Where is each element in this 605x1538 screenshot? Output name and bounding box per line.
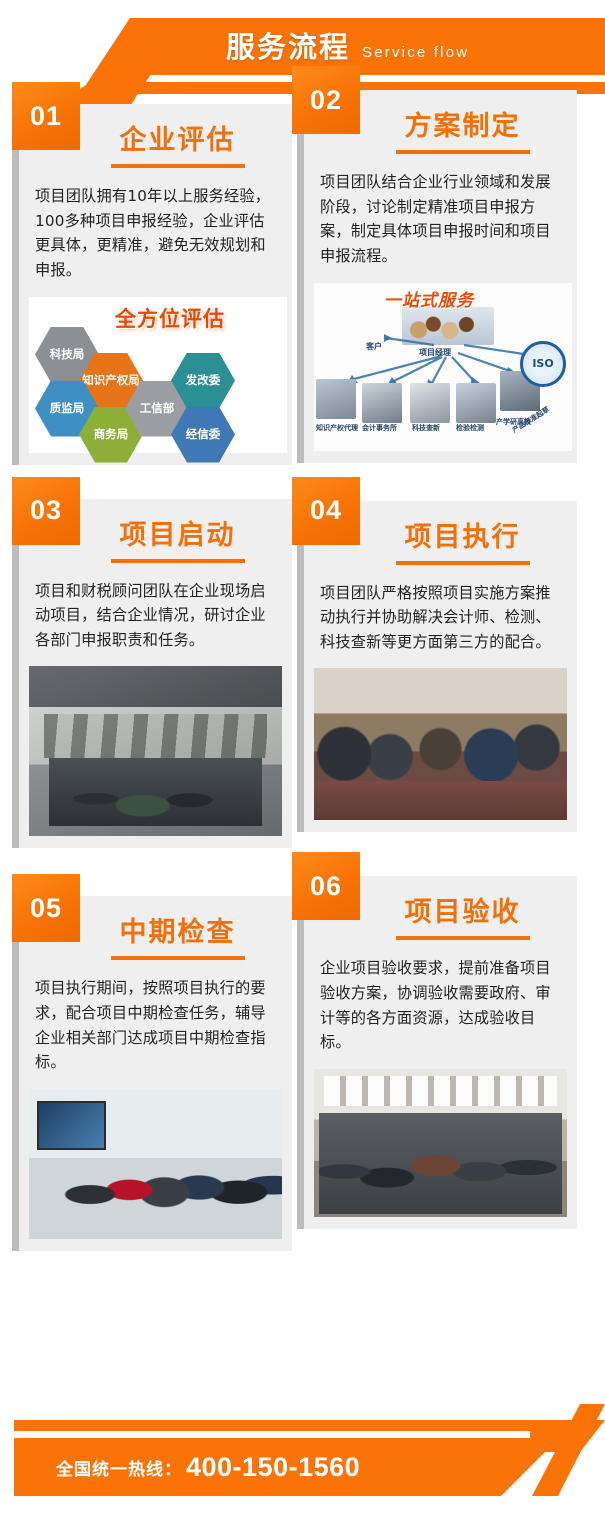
step-card-06: 06 项目验收 企业项目验收要求，提前准备项目验收方案，协调验收需要政府、审计等… bbox=[297, 876, 577, 1229]
title-underline-06 bbox=[396, 936, 530, 940]
step-media-02: 一站式服务 bbox=[304, 279, 577, 463]
step-card-03: 03 项目启动 项目和财税顾问团队在企业现场启动项目，结合企业情况，研讨企业各部… bbox=[12, 499, 292, 849]
step-title-04: 项目执行 bbox=[405, 515, 521, 554]
photo-working-meeting bbox=[314, 668, 567, 820]
service-flow-infographic: 服务流程 Service flow 01 企业评估 项目团队拥有10年以上服务经… bbox=[0, 0, 605, 1538]
one-stop-leaf-label: 会计事务所 bbox=[362, 423, 397, 433]
one-stop-client-label: 客户 bbox=[366, 341, 382, 352]
step-number-badge-04: 04 bbox=[292, 477, 360, 545]
title-underline-02 bbox=[396, 150, 530, 154]
step-media-06 bbox=[304, 1065, 577, 1229]
step-title-02: 方案制定 bbox=[405, 104, 521, 143]
step-number-badge-01: 01 bbox=[12, 82, 80, 150]
step-title-03: 项目启动 bbox=[120, 513, 236, 552]
page-subtitle: Service flow bbox=[362, 44, 469, 61]
photo-showroom-visit bbox=[29, 1089, 282, 1239]
one-stop-title: 一站式服务 bbox=[384, 286, 474, 311]
photo-conference-room bbox=[29, 666, 282, 836]
one-stop-leaf-label: 检验检测 bbox=[456, 423, 484, 433]
one-stop-leaf-thumb bbox=[456, 383, 496, 423]
step-media-04 bbox=[304, 664, 577, 832]
step-body-06: 企业项目验收要求，提前准备项目验收方案，协调验收需要政府、审计等的各方面资源，达… bbox=[304, 950, 577, 1065]
footer-accent-stripe bbox=[14, 1420, 559, 1431]
step-body-02: 项目团队结合企业行业领域和发展阶段，讨论制定精准项目申报方案，制定具体项目申报时… bbox=[304, 164, 577, 279]
step-number-badge-03: 03 bbox=[12, 477, 80, 545]
step-card-01: 01 企业评估 项目团队拥有10年以上服务经验，100多种项目申报经验，企业评估… bbox=[12, 104, 292, 465]
page-title: 服务流程 bbox=[226, 24, 350, 66]
one-stop-service-diagram: 一站式服务 bbox=[314, 283, 572, 451]
step-number-badge-05: 05 bbox=[12, 874, 80, 942]
header-title-group: 服务流程 Service flow bbox=[226, 24, 469, 70]
title-underline-05 bbox=[111, 956, 245, 960]
steps-column-right: 02 方案制定 项目团队结合企业行业领域和发展阶段，讨论制定精准项目申报方案，制… bbox=[297, 90, 577, 1241]
step-media-01: 全方位评估 科技局知识产权局质监局商务局工信部发改委经信委 bbox=[19, 293, 292, 465]
one-stop-leaf-thumb bbox=[316, 379, 356, 419]
step-card-04: 04 项目执行 项目团队严格按照项目实施方案推动执行并协助解决会计师、检测、科技… bbox=[297, 501, 577, 833]
title-underline-03 bbox=[111, 559, 245, 563]
step-number-badge-06: 06 bbox=[292, 852, 360, 920]
step-card-05: 05 中期检查 项目执行期间，按照项目执行的要求，配合项目中期检查任务，辅导企业… bbox=[12, 896, 292, 1251]
step-title-01: 企业评估 bbox=[120, 118, 236, 157]
one-stop-leaf-thumb bbox=[410, 383, 450, 423]
step-media-03 bbox=[19, 662, 292, 848]
title-underline-01 bbox=[111, 164, 245, 168]
steps-column-left: 01 企业评估 项目团队拥有10年以上服务经验，100多种项目申报经验，企业评估… bbox=[12, 104, 292, 1263]
step-card-02: 02 方案制定 项目团队结合企业行业领域和发展阶段，讨论制定精准项目申报方案，制… bbox=[297, 90, 577, 463]
step-body-03: 项目和财税顾问团队在企业现场启动项目，结合企业情况，研讨企业各部门申报职责和任务… bbox=[19, 573, 292, 663]
one-stop-leaf-thumb bbox=[362, 383, 402, 423]
one-stop-leaf-label: 知识产权代理 bbox=[316, 423, 358, 433]
one-stop-leaf-label: 科技查新 bbox=[412, 423, 440, 433]
iso-seal-icon: ISO bbox=[520, 341, 566, 387]
hex-infographic-title: 全方位评估 bbox=[115, 303, 225, 333]
hotline-label: 全国统一热线： bbox=[56, 1455, 182, 1480]
hotline-number[interactable]: 400-150-1560 bbox=[186, 1452, 360, 1483]
step-body-01: 项目团队拥有10年以上服务经验，100多种项目申报经验，企业评估更具体，更精准，… bbox=[19, 178, 292, 293]
step-body-04: 项目团队严格按照项目实施方案推动执行并协助解决会计师、检测、科技查新等更方面第三… bbox=[304, 575, 577, 665]
step-title-06: 项目验收 bbox=[405, 890, 521, 929]
hotline-group: 全国统一热线： 400-150-1560 bbox=[56, 1438, 360, 1496]
hex-infographic: 全方位评估 科技局知识产权局质监局商务局工信部发改委经信委 bbox=[29, 297, 287, 453]
step-media-05 bbox=[19, 1085, 292, 1251]
page-footer: 全国统一热线： 400-150-1560 bbox=[0, 1398, 605, 1538]
step-body-05: 项目执行期间，按照项目执行的要求，配合项目中期检查任务，辅导企业相关部门达成项目… bbox=[19, 970, 292, 1085]
one-stop-center-label: 项目经理 bbox=[419, 347, 451, 358]
step-number-badge-02: 02 bbox=[292, 66, 360, 134]
step-title-05: 中期检查 bbox=[120, 910, 236, 949]
title-underline-04 bbox=[396, 561, 530, 565]
photo-acceptance-meeting bbox=[314, 1069, 567, 1217]
